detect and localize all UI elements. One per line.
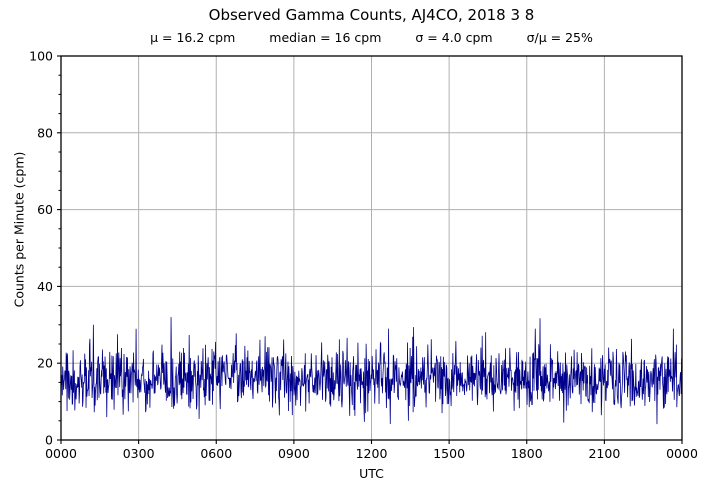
y-tick-label: 60 xyxy=(37,202,53,217)
y-tick-label: 40 xyxy=(37,279,53,294)
y-tick-label: 100 xyxy=(29,49,53,64)
x-tick-label: 1200 xyxy=(356,446,388,461)
y-tick-label: 20 xyxy=(37,356,53,371)
x-tick-label: 1800 xyxy=(511,446,543,461)
x-tick-label: 0600 xyxy=(200,446,232,461)
x-tick-label: 2100 xyxy=(588,446,620,461)
x-tick-label: 0300 xyxy=(123,446,155,461)
y-tick-label: 80 xyxy=(37,125,53,140)
x-tick-label: 0000 xyxy=(666,446,698,461)
x-tick-label: 0900 xyxy=(278,446,310,461)
x-tick-label: 1500 xyxy=(433,446,465,461)
plot-canvas: 0204060801000000030006000900120015001800… xyxy=(0,0,705,489)
gamma-counts-figure: Observed Gamma Counts, AJ4CO, 2018 3 8 μ… xyxy=(0,0,705,489)
axis-ticks xyxy=(57,56,682,444)
x-tick-label: 0000 xyxy=(45,446,77,461)
